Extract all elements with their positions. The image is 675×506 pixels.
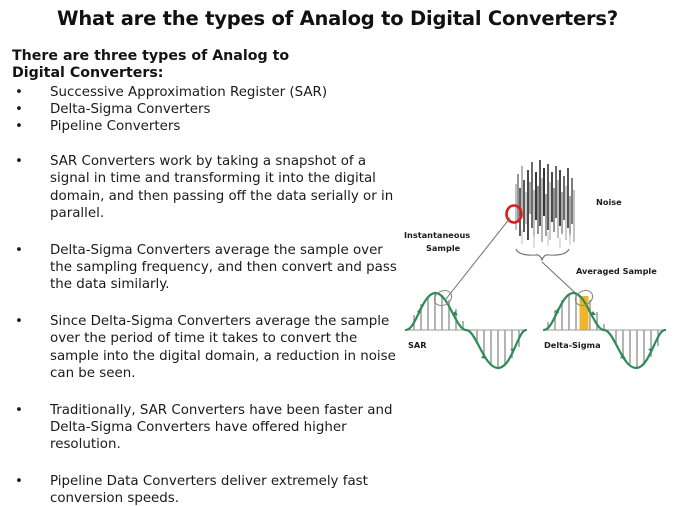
list-item-label: Delta-Sigma Converters average the sampl… [50,243,397,293]
list-item: • Delta-Sigma Converters average the sam… [12,242,407,294]
list-item-label: Since Delta-Sigma Converters average the… [50,314,396,381]
list-item: • SAR Converters work by taking a snapsh… [12,153,407,223]
list-item-label: Pipeline Converters [50,119,180,134]
list-item-label: SAR Converters work by taking a snapshot… [50,154,393,221]
list-item: • Pipeline Converters [12,118,407,135]
sar-label: SAR [408,340,427,350]
list-item-label: Traditionally, SAR Converters have been … [50,403,392,453]
delta-sigma-label: Delta-Sigma [544,340,601,350]
slide-canvas: What are the types of Analog to Digital … [0,0,675,506]
bullet-icon: • [15,473,23,490]
list-item: • Traditionally, SAR Converters have bee… [12,402,407,454]
averaged-sample-brace-icon [516,249,569,260]
content-column: There are three types of Analog to Digit… [12,48,407,506]
list-item-label: Pipeline Data Converters deliver extreme… [50,474,368,506]
delta-sigma-waveform: Delta-Sigma [544,288,665,368]
list-item: • Pipeline Data Converters deliver extre… [12,473,407,506]
averaged-sample-label: Averaged Sample [576,266,657,276]
bullet-icon: • [15,402,23,419]
converter-details-list: • SAR Converters work by taking a snapsh… [12,153,407,506]
noise-label: Noise [596,197,622,207]
bullet-icon: • [15,242,23,259]
intro-heading: There are three types of Analog to Digit… [12,48,342,83]
noise-waveform-icon [516,160,574,248]
list-item: • Delta-Sigma Converters [12,101,407,118]
instantaneous-sample-label-line2: Sample [426,243,461,253]
bullet-icon: • [15,84,23,101]
list-item-label: Delta-Sigma Converters [50,102,210,117]
sar-waveform: SAR [406,288,526,368]
adc-sampling-diagram: SAR [398,152,673,400]
page-title: What are the types of Analog to Digital … [0,7,675,30]
list-item: • Successive Approximation Register (SAR… [12,84,407,101]
instantaneous-sample-label: Instantaneous [404,230,470,240]
bullet-icon: • [15,101,23,118]
bullet-icon: • [15,313,23,330]
list-item-label: Successive Approximation Register (SAR) [50,85,327,100]
bullet-icon: • [15,118,23,135]
converter-types-list: • Successive Approximation Register (SAR… [12,84,407,136]
list-item: • Since Delta-Sigma Converters average t… [12,313,407,383]
bullet-icon: • [15,153,23,170]
